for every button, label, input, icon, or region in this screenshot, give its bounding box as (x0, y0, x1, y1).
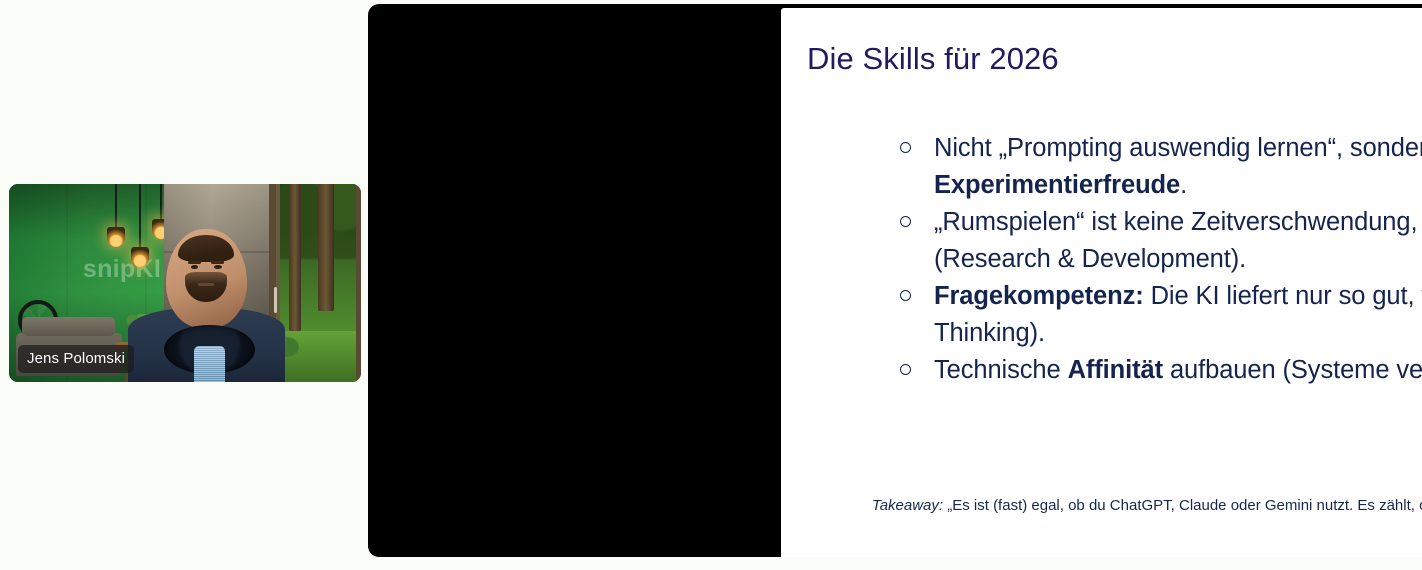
bullet-text: „Rumspielen“ ist keine Zeitverschwendung… (934, 208, 1422, 273)
takeaway-label: Takeaway: (872, 497, 943, 514)
bullet-span: aufbauen (Systeme verstehen) (1163, 356, 1422, 384)
participant-video-tile[interactable]: snipKI (9, 184, 361, 382)
bullet-span: Technische (934, 356, 1068, 384)
hollow-circle-bullet-icon (900, 290, 911, 301)
bullet-emphasis: Fragekompetenz: (934, 282, 1144, 310)
pendant-lamp-icon (115, 184, 117, 230)
bullet-item: „Rumspielen“ ist keine Zeitverschwendung… (889, 204, 1422, 278)
takeaway-note: Takeaway: „Es ist (fast) egal, ob du Cha… (781, 495, 1422, 517)
bullet-span: Nicht „Prompting auswendig lernen“, sond… (934, 134, 1422, 162)
bullet-text: Technische Affinität aufbauen (Systeme v… (934, 356, 1422, 384)
takeaway-quote: „Es ist (fast) egal, ob du ChatGPT, Clau… (943, 497, 1422, 514)
bullet-item: Nicht „Prompting auswendig lernen“, sond… (889, 130, 1422, 204)
hollow-circle-bullet-icon (900, 216, 911, 227)
window-handle-icon (274, 287, 277, 313)
pendant-lamp-icon (139, 184, 141, 250)
shared-screen-frame[interactable]: snipKI Die Skills für 2026 Nicht „Prompt… (368, 4, 1422, 557)
bullet-text: Fragekompetenz: Die KI liefert nur so gu… (934, 282, 1422, 347)
presentation-slide[interactable]: snipKI Die Skills für 2026 Nicht „Prompt… (781, 8, 1422, 557)
hollow-circle-bullet-icon (900, 142, 911, 153)
bullet-span: „Rumspielen“ ist keine Zeitverschwendung… (934, 208, 1422, 273)
bullet-text: Nicht „Prompting auswendig lernen“, sond… (934, 134, 1422, 199)
screen-share-stage: snipKI (0, 0, 1422, 570)
bullet-item: Fragekompetenz: Die KI liefert nur so gu… (889, 278, 1422, 352)
bullet-item: Technische Affinität aufbauen (Systeme v… (889, 352, 1422, 389)
participant-name-badge: Jens Polomski (18, 345, 134, 373)
page-title: Die Skills für 2026 (807, 41, 1059, 77)
bullet-emphasis: Affinität (1068, 356, 1163, 384)
bullet-span: . (1180, 171, 1187, 199)
microphone-icon (164, 325, 256, 382)
hollow-circle-bullet-icon (900, 364, 911, 375)
bullet-list: Nicht „Prompting auswendig lernen“, sond… (889, 130, 1422, 389)
